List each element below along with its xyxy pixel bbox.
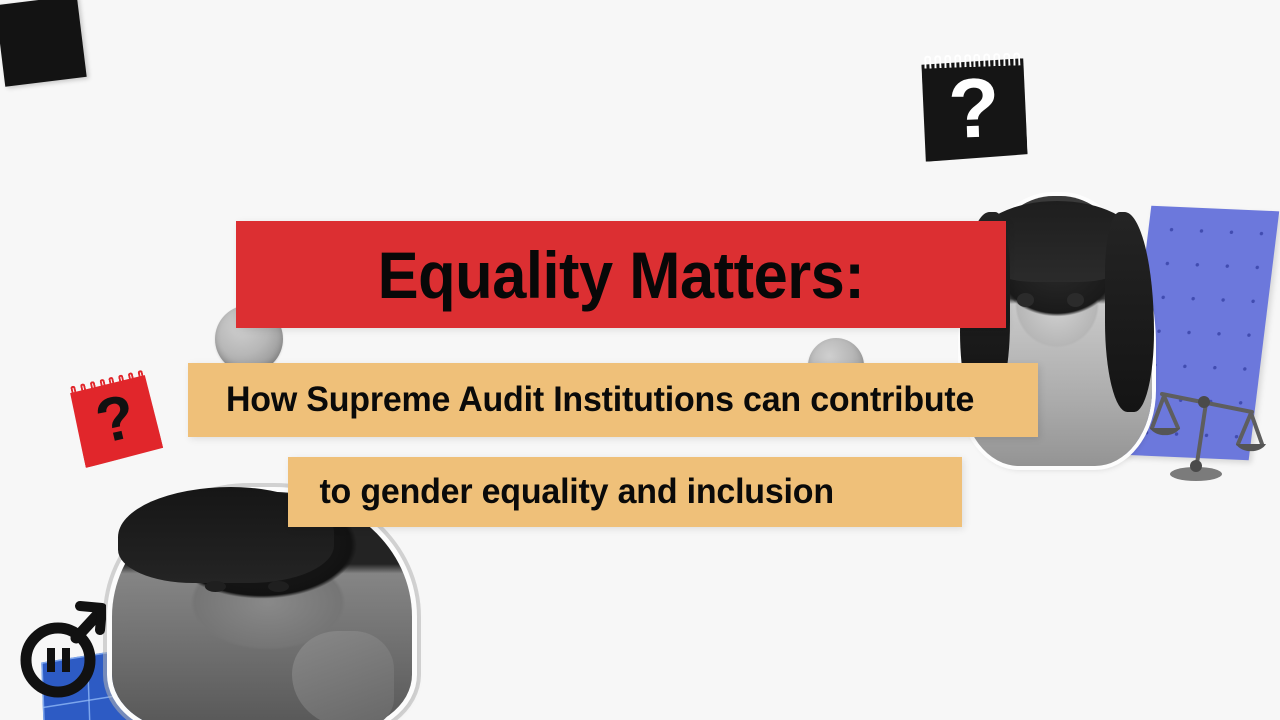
subtitle-band-1: How Supreme Audit Institutions can contr…	[188, 363, 1038, 437]
subtitle-line-2: to gender equality and inclusion	[298, 472, 952, 512]
note-pad: ?	[920, 58, 1027, 162]
hand	[292, 631, 394, 720]
page-title: Equality Matters:	[263, 237, 979, 313]
scales-of-justice-icon	[1148, 382, 1266, 487]
subtitle-line-1: How Supreme Audit Institutions can contr…	[201, 380, 1026, 420]
slide-canvas: ? ? Equality Matters: How Supreme Audit …	[0, 0, 1280, 720]
question-mark-icon: ?	[90, 386, 141, 455]
question-mark-icon: ?	[947, 65, 1001, 151]
question-mark-note-left: ?	[68, 374, 163, 468]
gender-symbol-icon	[14, 598, 106, 698]
eye-left	[205, 581, 226, 592]
eye-right	[1067, 293, 1084, 307]
eye-left	[1017, 293, 1034, 307]
question-mark-note-top-right: ?	[920, 58, 1027, 162]
eye-right	[268, 581, 289, 592]
subtitle-band-2: to gender equality and inclusion	[288, 457, 962, 527]
title-banner: Equality Matters:	[236, 221, 1006, 328]
black-square-decoration	[0, 0, 87, 87]
